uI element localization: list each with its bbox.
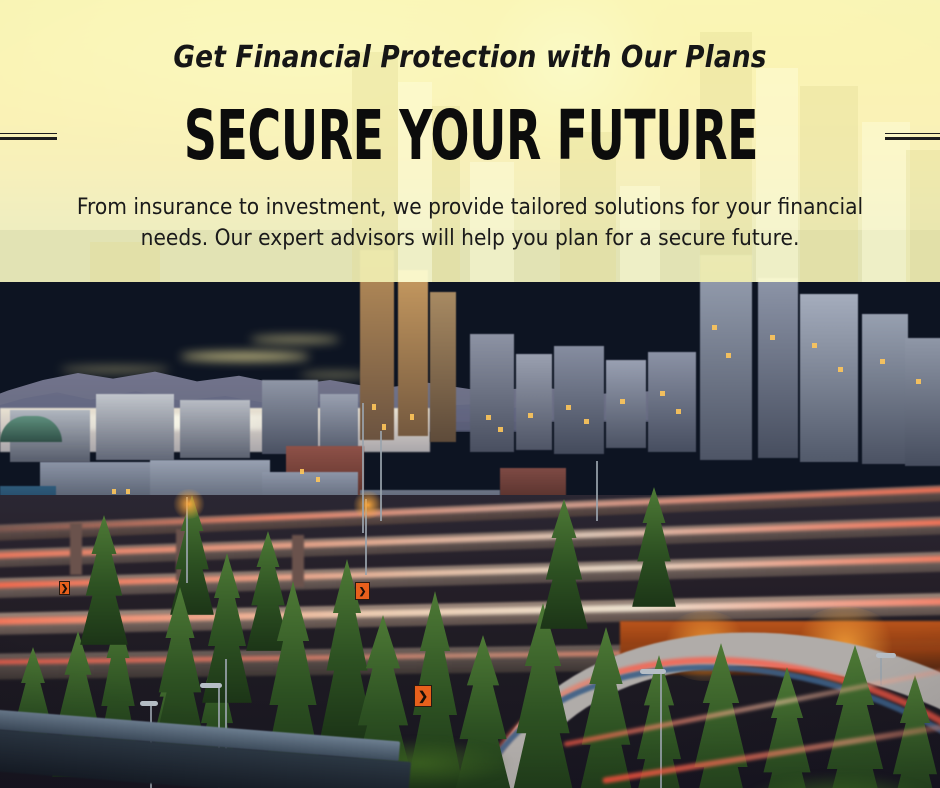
- window-light: [584, 419, 589, 424]
- skyscraper: [905, 338, 940, 466]
- skyscraper-lit: [398, 270, 428, 436]
- window-light: [372, 404, 376, 410]
- window-light: [486, 415, 491, 420]
- window-light: [812, 343, 817, 348]
- banner-eyebrow: Get Financial Protection with Our Plans: [56, 40, 883, 75]
- building: [96, 394, 174, 460]
- window-light: [712, 325, 717, 330]
- window-light: [498, 427, 503, 432]
- banner-description: From insurance to investment, we provide…: [38, 192, 903, 254]
- window-light: [300, 469, 304, 474]
- window-light: [660, 391, 665, 396]
- building: [648, 352, 696, 452]
- decorative-rule-right: [885, 132, 940, 141]
- building: [606, 360, 646, 448]
- window-light: [916, 379, 921, 384]
- chevron-warning-sign: ❯: [355, 582, 370, 600]
- description-line-1: From insurance to investment, we provide…: [38, 192, 903, 223]
- bridge-pier: [292, 535, 304, 587]
- building: [516, 354, 552, 450]
- street-lamp-head: [640, 669, 666, 674]
- chevron-warning-sign: ❯: [414, 685, 432, 707]
- decorative-rule-left: [0, 132, 57, 141]
- skyscraper: [862, 314, 908, 464]
- page-title: SECURE YOUR FUTURE: [165, 102, 778, 170]
- promo-banner: ❯ ❯ ❯ Get Financial Protection with Our: [0, 0, 940, 788]
- street-lamp-head: [140, 701, 158, 706]
- street-lamp-pole: [362, 403, 364, 533]
- building: [554, 346, 604, 454]
- window-light: [566, 405, 571, 410]
- building: [262, 380, 318, 454]
- grass-patch: [740, 773, 940, 788]
- foreground-landscape: ❯ ❯ ❯: [0, 495, 940, 788]
- window-light: [770, 335, 775, 340]
- window-light: [838, 367, 843, 372]
- window-light: [112, 489, 116, 494]
- title-row: SECURE YOUR FUTURE: [0, 100, 940, 172]
- window-light: [726, 353, 731, 358]
- window-light: [126, 489, 130, 494]
- street-lamp-head: [200, 683, 222, 688]
- bridge-pier: [70, 523, 82, 575]
- street-lamp-glow: [172, 489, 206, 519]
- building: [180, 400, 250, 458]
- street-lamp-pole: [380, 431, 382, 521]
- window-light: [880, 359, 885, 364]
- window-light: [620, 399, 625, 404]
- window-light: [676, 409, 681, 414]
- skyscraper-lit: [430, 292, 456, 442]
- headline-banner: Get Financial Protection with Our Plans …: [0, 0, 940, 282]
- skyscraper: [758, 278, 798, 458]
- window-light: [316, 477, 320, 482]
- skyscraper: [800, 294, 858, 462]
- window-light: [410, 414, 414, 420]
- window-light: [382, 424, 386, 430]
- street-lamp-pole: [596, 461, 598, 521]
- window-light: [528, 413, 533, 418]
- street-lamp-head: [876, 653, 896, 658]
- building: [470, 334, 514, 452]
- chevron-warning-sign: ❯: [59, 581, 70, 595]
- description-line-2: needs. Our expert advisors will help you…: [38, 223, 903, 254]
